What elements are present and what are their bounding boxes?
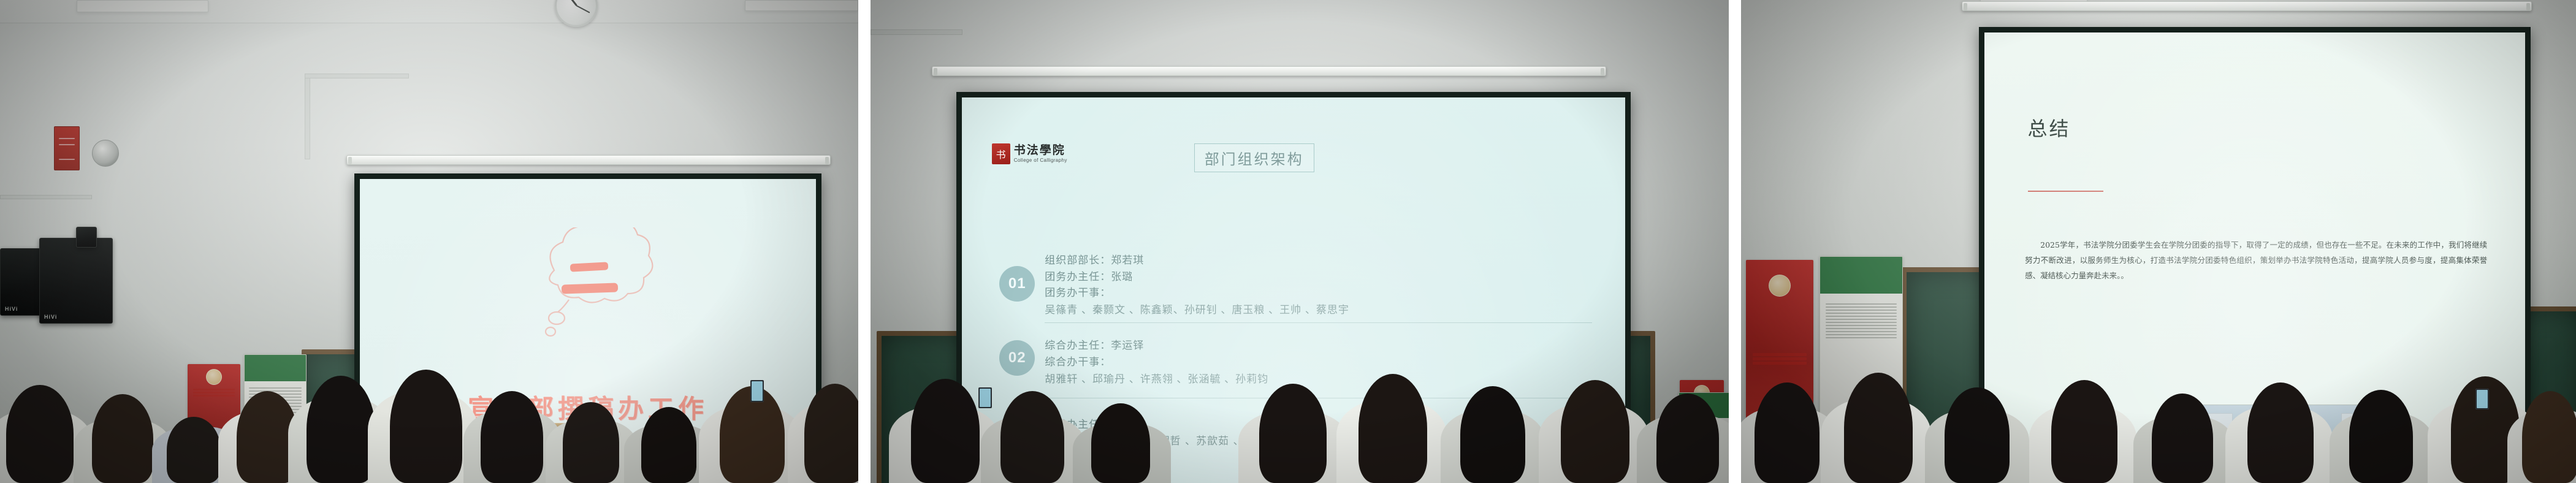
audience-head xyxy=(1844,373,1913,483)
logo-name-cn: 书法學院 xyxy=(1014,145,1067,157)
panel-divider-1 xyxy=(858,0,871,483)
housing-cap-right xyxy=(825,157,829,164)
audience-phone[interactable] xyxy=(978,387,992,408)
classroom-scene-3: 总结 2025学年，书法学院分团委学生会在学院分团委的指导下，取得了一定的成绩，… xyxy=(1741,0,2576,483)
audience-3 xyxy=(1741,287,2576,483)
audience-head xyxy=(1945,387,2010,483)
fire-alarm-line-3 xyxy=(59,159,75,160)
audience-phone[interactable] xyxy=(750,380,764,402)
audience-head xyxy=(2522,391,2576,483)
audience-head xyxy=(1460,386,1525,483)
audience-head xyxy=(1259,384,1327,483)
wall-conduit-vertical xyxy=(305,74,310,159)
amp-box xyxy=(76,227,97,248)
org-line: 组织部部长：郑若琪 xyxy=(1045,253,1592,268)
projector-screen-housing-1 xyxy=(346,155,831,165)
panel-org-structure: 书 书法學院 College of Calligraphy 部门组织架构 01 … xyxy=(871,0,1729,483)
audience-head xyxy=(911,379,980,483)
security-camera xyxy=(92,140,119,167)
fire-alarm-line-1 xyxy=(59,138,75,139)
panel-title-slide: HiVi HiVi xyxy=(0,0,858,483)
audience-head xyxy=(481,391,543,483)
section-number-badge: 01 xyxy=(999,266,1035,302)
ceiling-light-1 xyxy=(77,0,208,12)
audience-head xyxy=(2247,382,2314,483)
audience-head xyxy=(1358,374,1427,483)
audience-head xyxy=(804,384,858,483)
phone-screen xyxy=(2477,390,2488,408)
audience-head xyxy=(563,402,619,483)
audience-phone[interactable] xyxy=(2475,389,2489,409)
org-line: 团务办主任：张璐 xyxy=(1045,269,1592,285)
projector-screen-housing-2 xyxy=(932,66,1606,76)
wall-conduit-horizontal xyxy=(305,74,409,78)
title-underline xyxy=(2028,191,2103,192)
classroom-scene-2: 书 书法學院 College of Calligraphy 部门组织架构 01 … xyxy=(871,0,1729,483)
audience-head xyxy=(167,417,221,483)
audience-2 xyxy=(871,299,1729,483)
panel-divider-2 xyxy=(1729,0,1741,483)
three-panel-photo-composite: HiVi HiVi xyxy=(0,0,2576,483)
college-logo: 书 书法學院 College of Calligraphy xyxy=(992,143,1067,164)
audience-head xyxy=(641,407,696,483)
summary-paragraph: 2025学年，书法学院分团委学生会在学院分团委的指导下，取得了一定的成绩，但也存… xyxy=(2025,237,2487,283)
audience-head xyxy=(1091,403,1150,483)
phone-screen xyxy=(752,381,763,401)
audience-head xyxy=(1000,391,1064,483)
audience-head xyxy=(6,385,74,483)
audience-head xyxy=(390,370,462,483)
panel-summary-slide: 总结 2025学年，书法学院分团委学生会在学院分团委的指导下，取得了一定的成绩，… xyxy=(1741,0,2576,483)
fire-alarm-line-2 xyxy=(59,144,75,145)
slide2-title: 部门组织架构 xyxy=(1194,143,1314,172)
audience-1 xyxy=(0,287,858,483)
housing-cap-left xyxy=(934,68,937,75)
ceiling-conduit xyxy=(871,29,962,35)
phone-screen xyxy=(980,389,991,407)
housing-cap-right xyxy=(2526,3,2530,10)
audience-head xyxy=(1561,380,1629,483)
audience-head xyxy=(1755,382,1820,483)
housing-cap-left xyxy=(1964,3,1967,10)
housing-cap-right xyxy=(1601,68,1604,75)
audience-head xyxy=(92,394,153,483)
ceiling-light-2 xyxy=(745,0,858,11)
audience-head xyxy=(307,376,375,483)
classroom-scene-1: HiVi HiVi xyxy=(0,0,858,483)
audience-head xyxy=(2349,390,2413,483)
audience-head xyxy=(1656,394,1719,483)
slide3-title: 总结 xyxy=(2028,113,2071,142)
audience-head xyxy=(2051,380,2117,483)
projector-screen-housing-3 xyxy=(1962,1,2532,11)
clock-minute-hand xyxy=(576,5,590,13)
audience-head xyxy=(2152,394,2213,483)
fire-alarm-box xyxy=(54,126,80,170)
logo-name-en: College of Calligraphy xyxy=(1014,158,1067,163)
logo-mark: 书 xyxy=(992,143,1010,164)
wall-conduit-left xyxy=(0,195,92,199)
housing-cap-left xyxy=(348,157,352,164)
logo-text: 书法學院 College of Calligraphy xyxy=(1014,145,1067,163)
